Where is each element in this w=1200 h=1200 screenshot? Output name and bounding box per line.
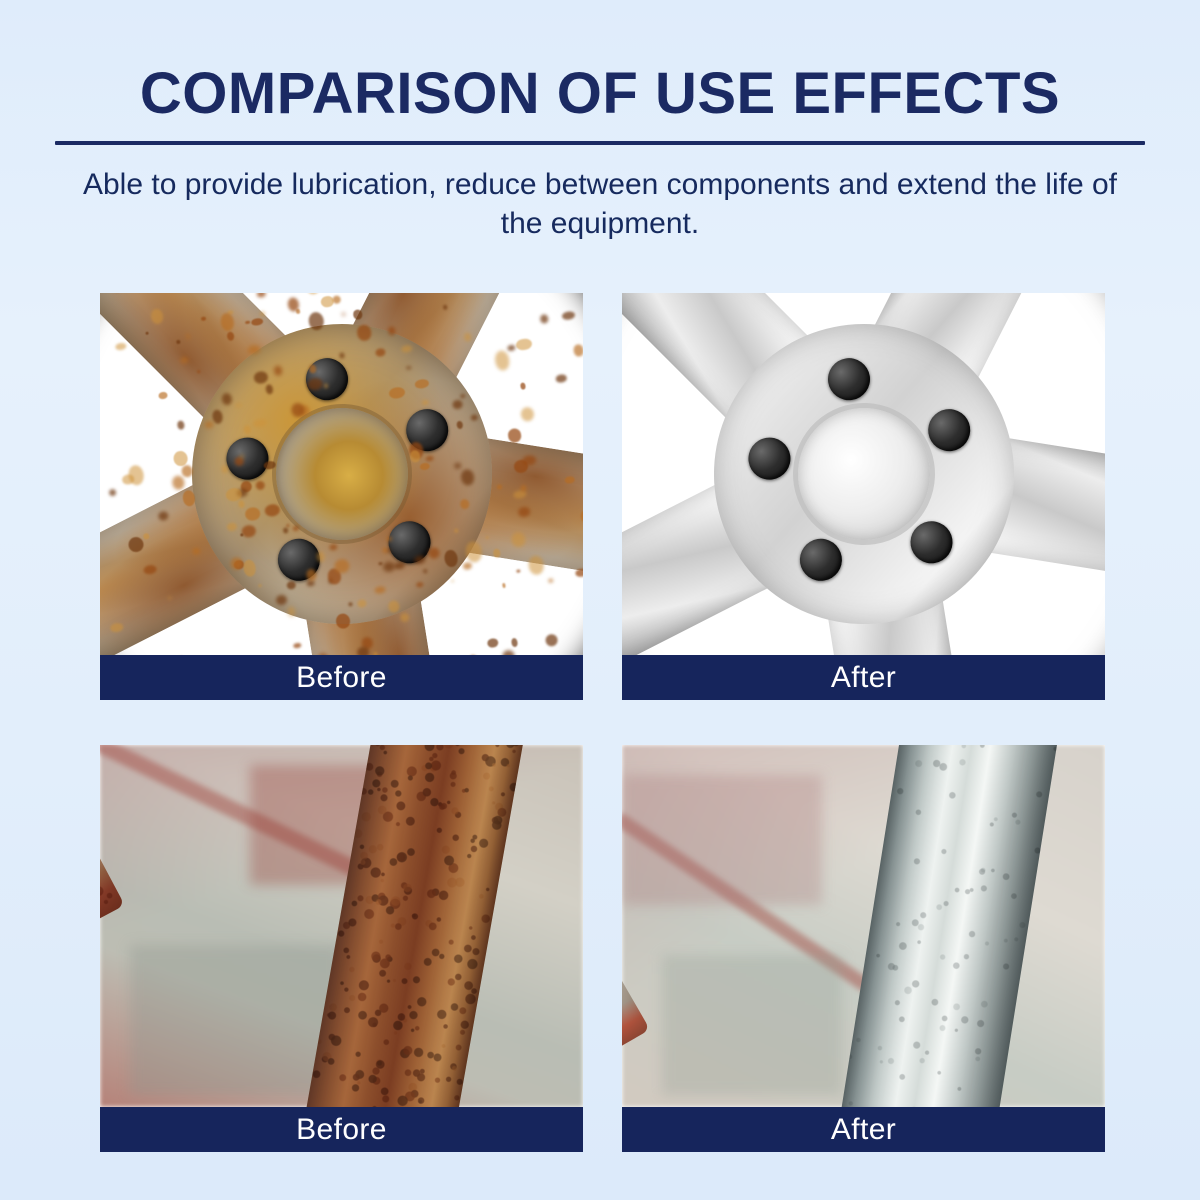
label-text: After — [831, 1115, 896, 1145]
clean-wheel-illustration — [622, 293, 1105, 655]
comparison-grid: Before After — [100, 293, 1105, 1152]
floor-patch — [622, 775, 822, 905]
page-title: COMPARISON OF USE EFFECTS — [52, 64, 1148, 125]
page-header: COMPARISON OF USE EFFECTS Able to provid… — [0, 0, 1200, 244]
comparison-card-pipe-before: Before — [100, 745, 583, 1152]
wheel-disc — [100, 293, 583, 655]
label-bar-after-pipe: After — [622, 1107, 1105, 1152]
page-subtitle: Able to provide lubrication, reduce betw… — [52, 165, 1148, 244]
rusted-wheel-illustration — [100, 293, 583, 655]
clean-pipe-illustration — [622, 745, 1105, 1107]
label-bar-before-pipe: Before — [100, 1107, 583, 1152]
label-text: Before — [296, 663, 387, 693]
title-divider — [55, 141, 1145, 145]
comparison-card-wheel-after: After — [622, 293, 1105, 700]
label-bar-before-wheel: Before — [100, 655, 583, 700]
floor-patch — [130, 945, 340, 1095]
comparison-card-pipe-after: After — [622, 745, 1105, 1152]
comparison-card-wheel-before: Before — [100, 293, 583, 700]
photo-rusted-wheel — [100, 293, 583, 655]
label-text: Before — [296, 1115, 387, 1145]
photo-rusted-pipe — [100, 745, 583, 1107]
floor-patch — [662, 955, 842, 1095]
photo-clean-pipe — [622, 745, 1105, 1107]
label-bar-after-wheel: After — [622, 655, 1105, 700]
photo-clean-wheel — [622, 293, 1105, 655]
wheel-disc — [622, 293, 1105, 655]
rusted-pipe-illustration — [100, 745, 583, 1107]
label-text: After — [831, 663, 896, 693]
